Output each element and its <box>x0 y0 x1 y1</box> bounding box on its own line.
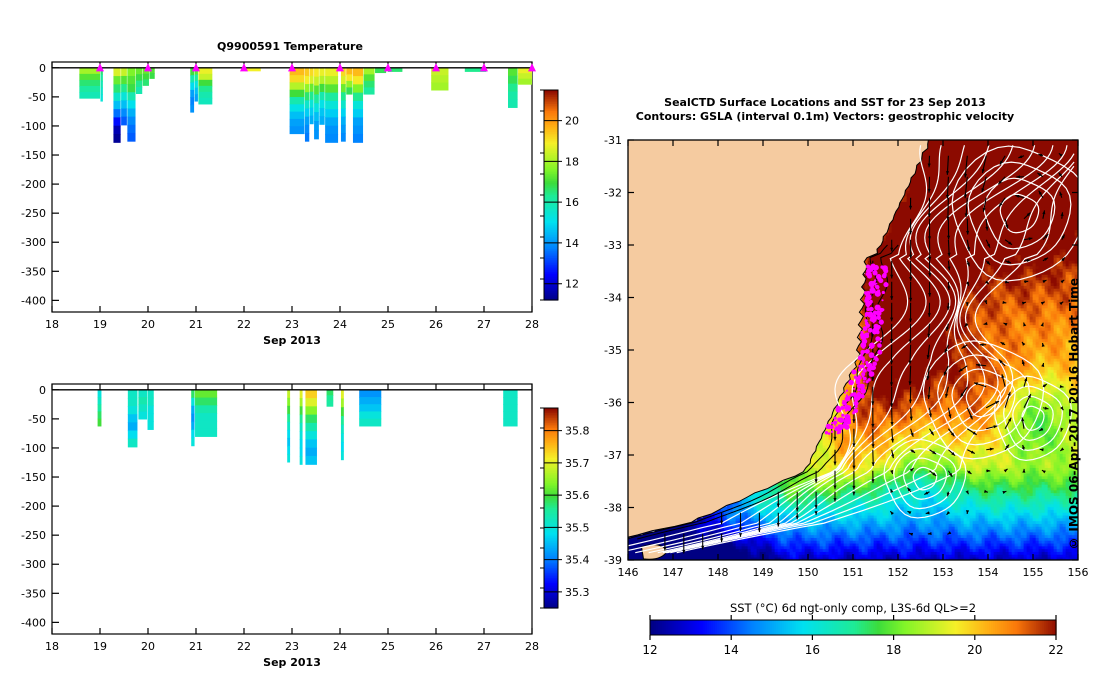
profile-cell <box>121 76 127 85</box>
profile-cell <box>148 398 154 407</box>
profile-cell <box>148 390 154 399</box>
profile-cell <box>314 103 319 112</box>
profile-cell <box>300 423 303 432</box>
profile-cell <box>353 68 363 77</box>
profile-cell <box>325 126 338 135</box>
x-tick-label: 26 <box>429 640 443 653</box>
profile-cell <box>127 100 135 109</box>
profile-cell <box>127 117 135 126</box>
y-tick-label: 0 <box>39 384 46 397</box>
profile-cell <box>113 93 120 102</box>
profile-cell <box>305 109 309 118</box>
profile-cell <box>325 117 338 126</box>
profile-cell <box>305 117 309 126</box>
profile-cell <box>127 92 135 101</box>
profile-cell <box>287 446 290 455</box>
profile-cell <box>503 419 517 427</box>
profile-cell <box>191 414 194 423</box>
profile-cell <box>191 398 194 407</box>
profile-cell <box>305 68 309 77</box>
profile-cell <box>353 76 363 85</box>
profile-cell <box>305 456 317 465</box>
profile-cell <box>346 68 352 75</box>
profile-cell <box>341 416 344 425</box>
profile-cell <box>353 134 363 143</box>
profile-cell <box>290 75 305 83</box>
profile-cell <box>128 390 138 399</box>
profile-cell <box>325 84 338 93</box>
map-content <box>580 140 1087 561</box>
profile-cell <box>128 422 138 431</box>
profile-cell <box>127 68 135 77</box>
profile-cell <box>149 73 154 79</box>
profile-cell <box>121 109 127 118</box>
profile-cell <box>325 109 338 118</box>
profile-cell <box>113 101 120 110</box>
profile-cell <box>508 92 518 101</box>
x-tick-label: 24 <box>333 318 347 331</box>
profile-cell <box>113 117 120 126</box>
profile-cell <box>290 82 305 90</box>
y-tick-label: -200 <box>21 500 46 513</box>
profile-cell <box>113 134 120 143</box>
profile-cell <box>508 68 518 77</box>
profile-cell <box>190 105 194 113</box>
profile-cell <box>138 397 147 405</box>
colorbar-tick-label: 14 <box>565 237 579 250</box>
profile-cell <box>138 390 147 398</box>
profile-cell <box>128 431 138 440</box>
salinity-plot-area: 1819202122232425262728Sep 20130-50-100-1… <box>0 360 600 700</box>
profile-cell <box>359 411 381 419</box>
profile-cell <box>113 126 120 135</box>
profile-cell <box>353 109 363 118</box>
profile-cell <box>127 76 135 85</box>
profile-cell <box>305 406 317 415</box>
profile-cell <box>191 406 194 415</box>
profile-cell <box>327 395 334 401</box>
salinity-panel: 1819202122232425262728Sep 20130-50-100-1… <box>0 360 600 700</box>
profile-cell <box>290 97 305 105</box>
profile-cell <box>128 414 138 423</box>
profile-cell <box>79 74 100 81</box>
x-tick-label: 20 <box>141 318 155 331</box>
profile-cell <box>300 406 303 415</box>
profile-cell <box>305 133 309 142</box>
profile-cell <box>195 94 198 101</box>
profile-cell <box>195 74 198 81</box>
profile-cell <box>508 84 518 93</box>
map-title-line2: Contours: GSLA (interval 0.1m) Vectors: … <box>590 110 1060 123</box>
profile-cell <box>136 87 142 94</box>
profile-cell <box>98 397 102 405</box>
profile-cell <box>198 92 212 99</box>
profile-cell <box>300 390 303 399</box>
temperature-panel: Q9900591 Temperature 1819202122232425262… <box>0 0 600 360</box>
y-tick-label: -300 <box>21 236 46 249</box>
profile-cell <box>195 398 217 406</box>
x-tick-label: 22 <box>237 318 251 331</box>
profile-cell <box>503 404 517 412</box>
profile-cell <box>341 451 344 460</box>
x-tick-label: 22 <box>237 640 251 653</box>
profile-cell <box>195 421 217 429</box>
profile-cell <box>191 430 194 439</box>
profile-cell <box>310 76 314 85</box>
x-axis-label: Sep 2013 <box>263 656 321 669</box>
profile-cell <box>195 429 217 437</box>
profile-cell <box>341 433 344 442</box>
profile-cell <box>121 84 127 93</box>
profile-cell <box>98 419 102 427</box>
x-tick-label: 26 <box>429 318 443 331</box>
x-tick-label: 23 <box>285 318 299 331</box>
profile-cell <box>341 84 346 93</box>
profile-cell <box>325 93 338 102</box>
profile-cell <box>198 68 212 75</box>
profile-cell <box>341 390 344 399</box>
profile-cell <box>341 125 346 134</box>
profile-cell <box>325 76 338 85</box>
profile-cell <box>319 92 324 101</box>
profile-cell <box>325 68 338 77</box>
profile-cell <box>319 68 324 77</box>
profile-cell <box>143 79 149 85</box>
profile-cell <box>341 109 346 118</box>
profile-cell <box>136 68 142 75</box>
profile-cell <box>287 454 290 463</box>
profile-cell <box>128 439 138 448</box>
profile-cell <box>508 99 518 108</box>
profile-cell <box>364 81 375 88</box>
profile-cell <box>290 90 305 98</box>
profile-cell <box>100 81 102 88</box>
profile-cell <box>305 92 309 101</box>
colorbar-tick-label: 12 <box>565 278 579 291</box>
profile-cell <box>353 93 363 102</box>
profile-cell <box>190 97 194 105</box>
profile-cell <box>138 404 147 412</box>
profile-cell <box>305 125 309 134</box>
profile-cell <box>191 438 194 447</box>
profile-cell <box>341 442 344 451</box>
profile-cell <box>79 86 100 93</box>
profile-cell <box>100 88 102 95</box>
profile-cell <box>503 397 517 405</box>
x-tick-label: 28 <box>525 640 539 653</box>
profile-cell <box>287 430 290 439</box>
x-tick-label: 27 <box>477 318 491 331</box>
profile-cell <box>364 68 375 75</box>
profile-cell <box>310 92 314 101</box>
profile-cell <box>287 390 290 399</box>
profile-cell <box>136 81 142 88</box>
profile-cell <box>198 74 212 81</box>
profile-cell <box>190 75 194 83</box>
profile-cell <box>503 411 517 419</box>
profile-cell <box>314 86 319 95</box>
y-tick-label: -250 <box>21 529 46 542</box>
profile-cell <box>113 84 120 93</box>
profile-cell <box>287 398 290 407</box>
y-tick-label: 0 <box>39 62 46 75</box>
profile-cell <box>148 406 154 415</box>
plot-frame <box>52 384 532 634</box>
profile-cell <box>305 448 317 457</box>
profile-cell <box>300 398 303 407</box>
profile-cell <box>305 398 317 407</box>
profile-cell <box>353 117 363 126</box>
profile-cell <box>195 405 217 413</box>
profile-cell <box>346 81 352 88</box>
profile-cell <box>314 68 319 77</box>
profile-cell <box>508 76 518 85</box>
y-tick-label: -400 <box>21 616 46 629</box>
colorbar-tick-label: 16 <box>565 196 579 209</box>
profile-cell <box>300 415 303 424</box>
x-tick-label: 23 <box>285 640 299 653</box>
profile-cell <box>319 100 324 109</box>
profile-cell <box>287 406 290 415</box>
profile-cell <box>359 397 381 405</box>
profile-cell <box>198 80 212 87</box>
profile-cell <box>314 121 319 130</box>
profile-cell <box>319 84 324 93</box>
profile-cell <box>198 86 212 93</box>
y-tick-label: -50 <box>28 91 46 104</box>
temperature-title: Q9900591 Temperature <box>0 40 580 53</box>
profile-cell <box>127 109 135 118</box>
profile-cell <box>79 80 100 87</box>
profile-cell <box>121 117 127 126</box>
x-tick-label: 18 <box>45 318 59 331</box>
temperature-plot-area: 1819202122232425262728Sep 20130-50-100-1… <box>0 0 600 360</box>
profile-cell <box>341 425 344 434</box>
profile-cell <box>305 423 317 432</box>
profile-cell <box>138 412 147 420</box>
profile-cell <box>98 390 102 398</box>
profile-cell <box>121 68 127 77</box>
y-tick-label: -150 <box>21 471 46 484</box>
profile-cell <box>300 448 303 457</box>
profile-cell <box>359 419 381 427</box>
profile-cell <box>503 390 517 398</box>
profile-cell <box>341 100 346 109</box>
profile-cell <box>305 84 309 93</box>
profile-cell <box>431 75 448 83</box>
profile-cell <box>287 414 290 423</box>
profile-cell <box>148 421 154 430</box>
y-tick-label: -200 <box>21 178 46 191</box>
x-tick-label: 25 <box>381 640 395 653</box>
profile-cell <box>314 94 319 103</box>
profile-cell <box>341 117 346 126</box>
profile-cell <box>518 73 532 79</box>
profile-cell <box>79 92 100 99</box>
profile-cell <box>319 116 324 125</box>
profile-cell <box>98 411 102 419</box>
profile-cell <box>375 68 386 73</box>
y-tick-label: -350 <box>21 265 46 278</box>
profile-cell <box>341 407 344 416</box>
profile-cell <box>353 101 363 110</box>
profile-cell <box>341 92 346 101</box>
profile-cell <box>341 133 346 142</box>
profile-cell <box>327 401 334 407</box>
x-tick-label: 18 <box>45 640 59 653</box>
profile-cell <box>191 390 194 399</box>
profile-cell <box>359 390 381 398</box>
profile-cell <box>195 81 198 88</box>
profile-cell <box>300 431 303 440</box>
profile-cell <box>305 100 309 109</box>
profile-cell <box>327 390 334 396</box>
profile-cell <box>195 413 217 421</box>
profile-cell <box>290 119 305 127</box>
profile-cell <box>300 456 303 465</box>
y-tick-label: -400 <box>21 294 46 307</box>
x-tick-label: 19 <box>93 640 107 653</box>
profile-cell <box>518 79 532 85</box>
profile-cell <box>431 83 448 91</box>
profile-cell <box>353 126 363 135</box>
profile-cell <box>314 77 319 86</box>
profile-cell <box>128 406 138 415</box>
profile-cell <box>191 422 194 431</box>
profile-cell <box>100 74 102 81</box>
profile-cell <box>128 398 138 407</box>
profile-cell <box>113 109 120 118</box>
y-tick-label: -350 <box>21 587 46 600</box>
profile-cell <box>325 134 338 143</box>
x-tick-label: 20 <box>141 640 155 653</box>
profile-cell <box>287 422 290 431</box>
profile-cell <box>121 92 127 101</box>
profile-cell <box>136 74 142 81</box>
x-axis-label: Sep 2013 <box>263 334 321 347</box>
profile-cell <box>287 438 290 447</box>
profile-cell <box>310 116 314 125</box>
profile-cell <box>346 74 352 81</box>
profile-cell <box>353 84 363 93</box>
profile-cell <box>319 76 324 85</box>
profile-cell <box>195 88 198 95</box>
profile-cell <box>305 76 309 85</box>
profile-cell <box>305 431 317 440</box>
profile-cell <box>290 112 305 120</box>
profile-cell <box>127 133 135 142</box>
profile-cell <box>113 76 120 85</box>
x-tick-label: 27 <box>477 640 491 653</box>
profile-cell <box>341 399 344 408</box>
profile-cell <box>127 125 135 134</box>
profile-cell <box>190 83 194 91</box>
profile-cell <box>305 415 317 424</box>
profile-cell <box>310 68 314 77</box>
profile-cell <box>113 68 120 77</box>
profile-cell <box>195 390 217 398</box>
profile-cell <box>100 94 102 101</box>
profile-cell <box>314 112 319 121</box>
colorbar-tick-label: 18 <box>565 155 579 168</box>
profile-cell <box>319 108 324 117</box>
y-tick-label: -250 <box>21 207 46 220</box>
x-tick-label: 28 <box>525 318 539 331</box>
profile-cell <box>290 104 305 112</box>
profile-cell <box>198 98 212 105</box>
map-panel: SealCTD Surface Locations and SST for 23… <box>580 0 1099 700</box>
y-tick-label: -300 <box>21 558 46 571</box>
y-tick-label: -100 <box>21 442 46 455</box>
x-tick-label: 24 <box>333 640 347 653</box>
profile-cell <box>359 404 381 412</box>
profile-cell <box>127 84 135 93</box>
profile-cell <box>364 87 375 94</box>
y-tick-label: -50 <box>28 413 46 426</box>
profile-cell <box>190 90 194 98</box>
profile-cell <box>148 414 154 423</box>
profile-cell <box>310 100 314 109</box>
profile-cell <box>121 100 127 109</box>
profile-cell <box>310 84 314 93</box>
profile-cell <box>341 76 346 85</box>
map-title-line1: SealCTD Surface Locations and SST for 23… <box>590 96 1060 109</box>
profile-cell <box>325 101 338 110</box>
y-tick-label: -100 <box>21 120 46 133</box>
y-tick-label: -150 <box>21 149 46 162</box>
profile-cell <box>300 439 303 448</box>
x-tick-label: 19 <box>93 318 107 331</box>
profile-cell <box>310 108 314 117</box>
colorbar-tick-label: 20 <box>565 115 579 128</box>
profile-cell <box>314 130 319 139</box>
x-tick-label: 21 <box>189 318 203 331</box>
profile-cell <box>305 439 317 448</box>
x-tick-label: 25 <box>381 318 395 331</box>
profile-cell <box>98 404 102 412</box>
profile-cell <box>290 126 305 134</box>
profile-cell <box>364 74 375 81</box>
profile-cell <box>305 390 317 399</box>
colorbar: 1214161820 <box>540 90 579 301</box>
x-tick-label: 21 <box>189 640 203 653</box>
profile-cell <box>346 87 352 94</box>
profile-cell <box>143 74 149 80</box>
